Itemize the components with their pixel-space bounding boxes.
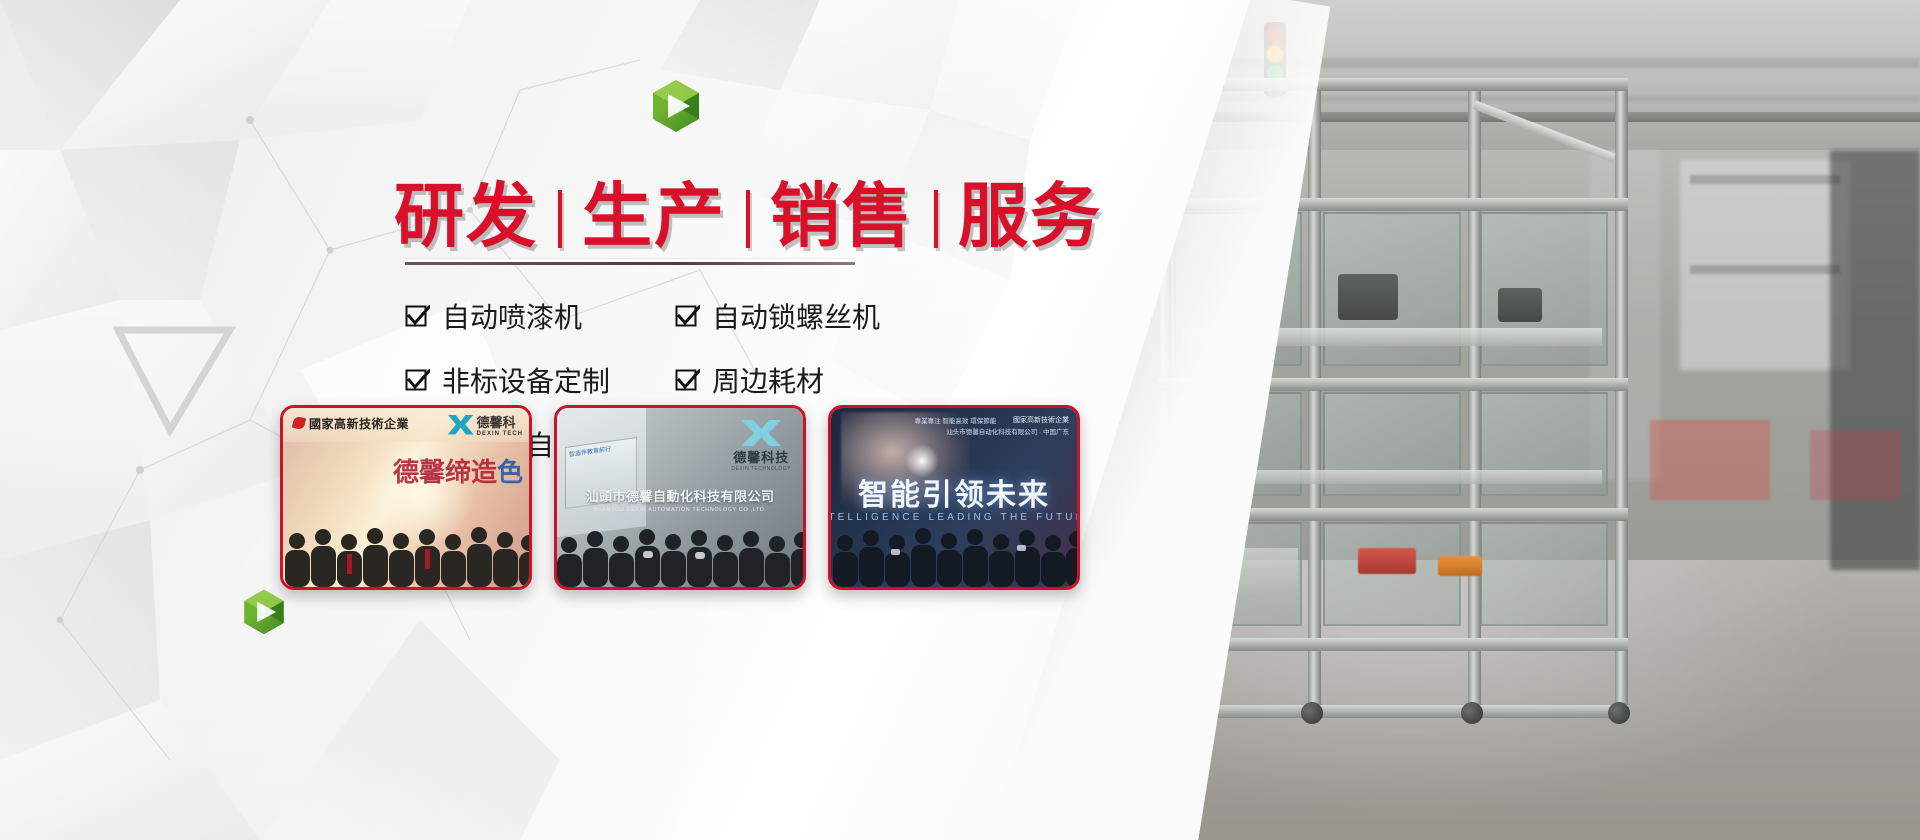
checkbox-checked-icon — [405, 368, 430, 393]
logo-text: 德馨科 DEXIN TECH — [477, 412, 523, 437]
showroom-team-photo[interactable]: 智造伴教育前行 德馨科技 DEXIN TECHNOLOGY 汕頭市德馨自動化科技… — [554, 405, 806, 590]
crowd-silhouette — [283, 521, 529, 587]
list-item-label: 自动锁螺丝机 — [712, 296, 880, 336]
checkbox-checked-icon — [675, 304, 700, 329]
logo-en: DEXIN TECH — [477, 431, 523, 437]
headline-word-2: 生产 — [576, 160, 732, 261]
list-item: 自动锁螺丝机 — [675, 296, 925, 336]
logo-cn: 德馨科技 — [731, 447, 791, 466]
green-hexagon-play-icon — [648, 78, 704, 134]
dexin-logo: 德馨科技 DEXIN TECHNOLOGY — [731, 420, 791, 472]
thumb1-script: 德馨缔造色 — [393, 452, 523, 489]
feature-row: 非标设备定制 周边耗材 — [405, 360, 925, 400]
feature-row: 自动喷漆机 自动锁螺丝机 — [405, 296, 925, 336]
crowd-silhouette — [557, 521, 803, 587]
award-ceremony-photo[interactable]: 國家高新技術企業 德馨科 DEXIN TECH 德馨缔造色 — [280, 405, 532, 590]
dexin-x-mark-icon — [448, 415, 474, 435]
list-item-label: 非标设备定制 — [442, 360, 610, 400]
company-name-cn: 汕頭市德馨自動化科技有限公司 — [585, 486, 774, 505]
list-item: 非标设备定制 — [405, 360, 675, 400]
company-name-block: 汕頭市德馨自動化科技有限公司 SHANTOU DEXIN AUTOMATION … — [585, 486, 774, 513]
stage-tag-right-body: 汕头市德馨自动化科技有限公司 · 中国广东 — [946, 427, 1069, 439]
headline-word-3: 销售 — [764, 160, 920, 261]
list-item: 自动喷漆机 — [405, 296, 675, 336]
photo-thumbnail-gallery: 國家高新技術企業 德馨科 DEXIN TECH 德馨缔造色 — [280, 405, 1080, 605]
headline-separator — [746, 190, 750, 248]
headline-separator — [558, 190, 562, 248]
checkbox-checked-icon — [675, 368, 700, 393]
dexin-logo: 德馨科 DEXIN TECH — [448, 412, 523, 437]
thumb1-badge: 國家高新技術企業 — [293, 415, 409, 432]
list-item-label: 自动喷漆机 — [442, 296, 582, 336]
dexin-x-mark-icon — [741, 420, 781, 446]
conference-stage-photo[interactable]: 專業專注 智能高效 環保節能 國家高新技術企業 汕头市德馨自动化科技有限公司 ·… — [828, 405, 1080, 590]
stage-title: 智能引领未来 — [858, 470, 1050, 514]
promotional-banner: 研发 生产 销售 服务 自动喷漆机 — [0, 0, 1920, 840]
stage-tag-right: 國家高新技術企業 汕头市德馨自动化科技有限公司 · 中国广东 — [946, 414, 1069, 440]
page-title: 研发 生产 销售 服务 — [388, 160, 1108, 261]
stage-tag-right-header: 國家高新技術企業 — [946, 414, 1069, 427]
green-hexagon-play-icon-small — [240, 588, 288, 636]
headline-word-1: 研发 — [388, 160, 544, 261]
headline-separator — [934, 190, 938, 248]
logo-en: DEXIN TECHNOLOGY — [731, 466, 791, 472]
checkbox-checked-icon — [405, 304, 430, 329]
list-item: 周边耗材 — [675, 360, 925, 400]
list-item-label: 周边耗材 — [712, 360, 824, 400]
headline-word-4: 服务 — [952, 160, 1108, 261]
company-name-en: SHANTOU DEXIN AUTOMATION TECHNOLOGY CO.,… — [585, 507, 774, 513]
title-divider — [405, 262, 855, 265]
flame-icon — [292, 416, 306, 430]
crowd-silhouette — [831, 521, 1077, 587]
